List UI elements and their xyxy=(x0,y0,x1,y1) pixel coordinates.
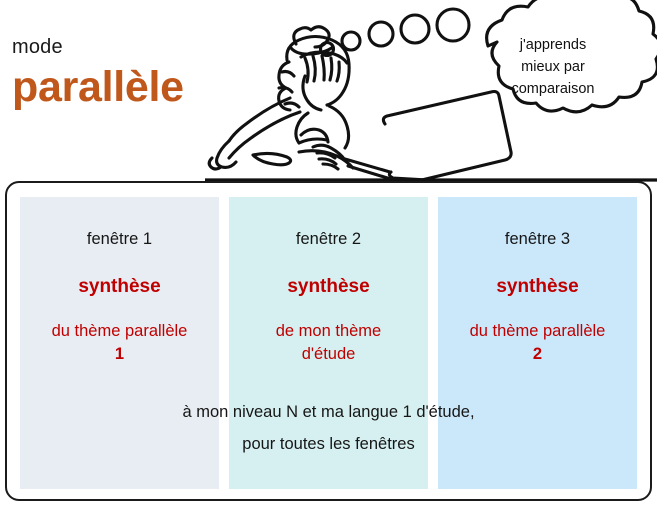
window-1-number: 1 xyxy=(115,345,124,363)
window-1-heading: synthèse xyxy=(20,276,219,299)
mode-name-label: parallèle xyxy=(12,65,232,110)
header-title-block: mode parallèle xyxy=(12,36,232,110)
mode-label: mode xyxy=(12,36,232,59)
thought-bubble-line-1: j'apprends xyxy=(479,34,627,56)
thought-bubble-line-2: mieux par xyxy=(479,56,627,78)
window-1-title: fenêtre 1 xyxy=(20,230,219,250)
thought-bubble-line-3: comparaison xyxy=(479,78,627,100)
window-2-description-line-1: de mon thème xyxy=(276,322,381,340)
parallel-mode-panel: fenêtre 1 synthèse du thème parallèle 1 … xyxy=(5,181,652,501)
window-3-description: du thème parallèle 2 xyxy=(438,320,637,367)
window-2-title: fenêtre 2 xyxy=(229,230,428,250)
window-2-description-line-2: d'étude xyxy=(302,345,356,363)
window-2-description: de mon thème d'étude xyxy=(229,320,428,367)
window-3-description-text: du thème parallèle xyxy=(470,322,606,340)
window-3-title: fenêtre 3 xyxy=(438,230,637,250)
thought-bubble-text: j'apprends mieux par comparaison xyxy=(479,34,627,100)
window-3-number: 2 xyxy=(533,345,542,363)
window-1-description: du thème parallèle 1 xyxy=(20,320,219,367)
panel-caption-line-1: à mon niveau N et ma langue 1 d'étude, xyxy=(20,396,637,428)
window-2-heading: synthèse xyxy=(229,276,428,299)
panel-caption: à mon niveau N et ma langue 1 d'étude, p… xyxy=(20,396,637,460)
panel-caption-line-2: pour toutes les fenêtres xyxy=(20,428,637,460)
window-3-heading: synthèse xyxy=(438,276,637,299)
window-1-description-text: du thème parallèle xyxy=(52,322,188,340)
